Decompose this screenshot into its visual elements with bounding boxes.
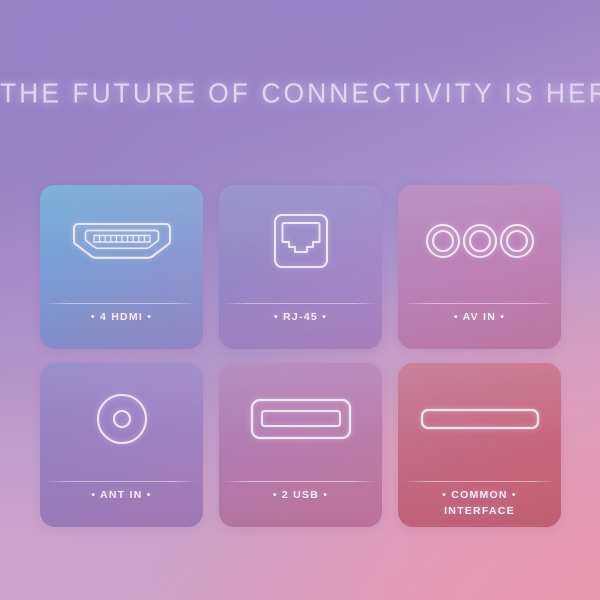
port-card-hdmi[interactable]: • 4 HDMI • — [40, 185, 203, 349]
port-card-avin[interactable]: • AV IN • — [398, 185, 561, 349]
page-title: THE FUTURE OF CONNECTIVITY IS HERE — [0, 77, 600, 110]
connectivity-infographic: THE FUTURE OF CONNECTIVITY IS HERE • 4 H… — [0, 0, 600, 600]
card-label-row: • ANT IN • — [40, 473, 203, 519]
card-label-row: • RJ-45 • — [219, 295, 382, 341]
card-label-row: • AV IN • — [398, 295, 561, 341]
port-card-rj45[interactable]: • RJ-45 • — [219, 185, 382, 349]
port-card-label-line2: INTERFACE — [398, 503, 561, 519]
port-card-label: • AV IN • — [398, 295, 561, 325]
port-card-common-interface[interactable]: • COMMON • INTERFACE — [398, 363, 561, 527]
card-label-row: • COMMON • INTERFACE — [398, 473, 561, 519]
common-interface-slot-icon — [398, 363, 561, 475]
card-label-row: • 2 USB • — [219, 473, 382, 519]
hdmi-port-icon — [40, 185, 203, 297]
port-card-label: • 4 HDMI • — [40, 295, 203, 325]
port-card-antin[interactable]: • ANT IN • — [40, 363, 203, 527]
card-label-row: • 4 HDMI • — [40, 295, 203, 341]
rj45-ethernet-port-icon — [219, 185, 382, 297]
port-card-label: • RJ-45 • — [219, 295, 382, 325]
antenna-coax-connector-icon — [40, 363, 203, 475]
port-card-label-line1: • 4 HDMI • — [83, 310, 160, 325]
port-card-label: • ANT IN • — [40, 473, 203, 503]
port-card-label: • 2 USB • — [219, 473, 382, 503]
port-card-usb[interactable]: • 2 USB • — [219, 363, 382, 527]
rca-av-jacks-icon — [398, 185, 561, 297]
port-card-grid: • 4 HDMI • • RJ-45 • — [40, 185, 561, 527]
port-card-label-line1: • RJ-45 • — [266, 310, 335, 325]
port-card-label-line1: • 2 USB • — [265, 488, 336, 503]
port-card-label-line1: • ANT IN • — [83, 488, 159, 503]
port-card-label-line1: • AV IN • — [446, 310, 513, 325]
port-card-label: • COMMON • INTERFACE — [398, 473, 561, 527]
port-card-label-line1: • COMMON • — [434, 488, 525, 503]
usb-port-icon — [219, 363, 382, 475]
